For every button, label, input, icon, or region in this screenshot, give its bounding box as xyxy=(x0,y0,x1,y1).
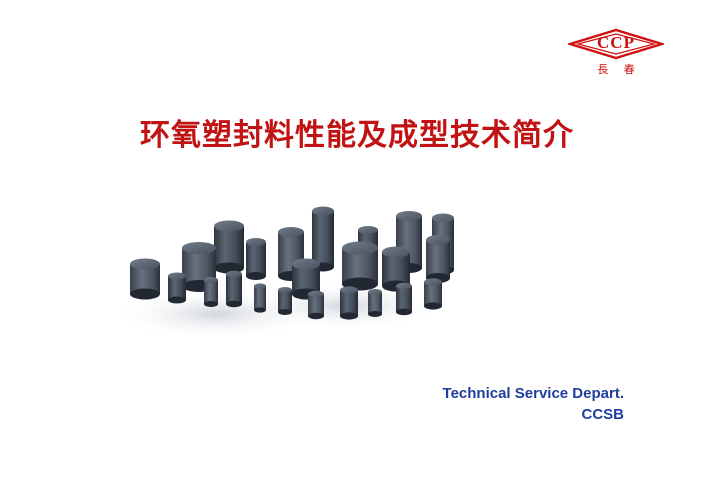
company-logo: CCP 長 春 xyxy=(568,28,664,82)
slide-title: 环氧塑封料性能及成型技术简介 xyxy=(0,110,702,154)
footer-line-1: Technical Service Depart. xyxy=(0,383,624,404)
parts-illustration xyxy=(96,186,486,356)
footer-line-2: CCSB xyxy=(0,404,624,425)
presentation-slide: CCP 長 春 环氧塑封料性能及成型技术简介 xyxy=(0,0,702,496)
logo-brand-text: CCP xyxy=(568,33,664,53)
footer-text: Technical Service Depart. CCSB xyxy=(0,383,702,425)
molded-epoxy-packages-photo xyxy=(96,186,486,356)
logo-subtitle-text: 長 春 xyxy=(568,61,664,77)
